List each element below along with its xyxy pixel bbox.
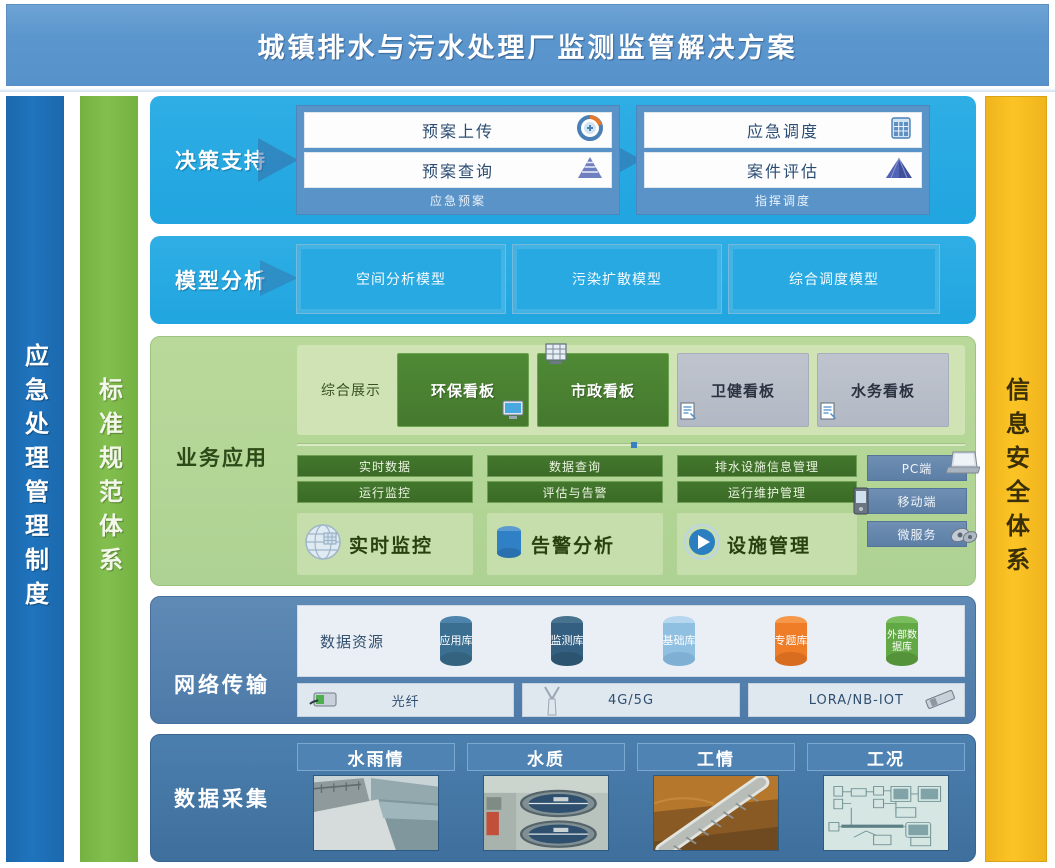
business-cell-label: 数据查询 xyxy=(549,458,601,475)
business-cell[interactable]: 运行监控 xyxy=(297,481,473,503)
pyramid-dark-icon xyxy=(885,156,913,184)
decision-item-label: 案件评估 xyxy=(747,158,819,182)
device-pc[interactable]: PC端 xyxy=(867,455,967,481)
transmission-link-4g5g[interactable]: 4G/5G xyxy=(522,683,739,717)
cycle-arrows-icon xyxy=(577,115,603,145)
grid-table-icon xyxy=(889,116,913,144)
data-card-title: 工情 xyxy=(697,745,735,770)
data-card-title: 水雨情 xyxy=(348,745,405,770)
svg-text:监测库: 监测库 xyxy=(551,634,584,647)
business-footer-label: 实时监控 xyxy=(349,531,433,558)
kanban-water-affairs[interactable]: 水务看板 xyxy=(817,353,949,427)
window-grid-icon xyxy=(544,342,568,370)
decision-item-label: 应急调度 xyxy=(747,118,819,142)
arrow-model xyxy=(260,260,298,296)
device-label: 移动端 xyxy=(897,493,936,510)
data-card-water-quality[interactable]: 水质 xyxy=(467,743,625,855)
header-separator xyxy=(0,88,1055,92)
business-footer-label: 告警分析 xyxy=(531,531,615,558)
kanban-label: 环保看板 xyxy=(431,380,495,401)
business-cell[interactable]: 评估与告警 xyxy=(487,481,663,503)
architecture-stack: 决策支持 预案上传 预案查询 xyxy=(150,96,976,862)
database-application[interactable]: 应用库 xyxy=(400,614,512,668)
database-monitoring[interactable]: 监测库 xyxy=(512,614,624,668)
model-box-integrated-dispatch[interactable]: 综合调度模型 xyxy=(728,244,940,314)
database-icon xyxy=(493,523,525,566)
comprehensive-display-label: 综合展示 xyxy=(305,380,397,400)
decision-item-case-assessment[interactable]: 案件评估 xyxy=(644,152,922,188)
decision-group-command-dispatch: 应急调度 案件评估 xyxy=(636,105,930,215)
decision-item-emergency-dispatch[interactable]: 应急调度 xyxy=(644,112,922,148)
decision-item-plan-upload[interactable]: 预案上传 xyxy=(304,112,612,148)
decision-group-caption: 指挥调度 xyxy=(644,192,922,209)
kanban-label: 水务看板 xyxy=(851,380,915,401)
business-cell[interactable]: 实时数据 xyxy=(297,455,473,477)
section-label-business-application: 业务应用 xyxy=(151,397,293,517)
gears-icon xyxy=(948,522,980,551)
device-label: PC端 xyxy=(902,460,933,477)
page-title: 城镇排水与污水处理厂监测监管解决方案 xyxy=(258,26,798,65)
data-card-title-bar: 工况 xyxy=(807,743,965,771)
transmission-link-lora[interactable]: LORA/NB-IOT xyxy=(748,683,965,717)
device-label: 微服务 xyxy=(897,526,936,543)
sensor-device-icon xyxy=(922,687,958,717)
data-card-works-status[interactable]: 工情 xyxy=(637,743,795,855)
data-card-title: 水质 xyxy=(527,745,565,770)
svg-text:应用库: 应用库 xyxy=(439,633,472,647)
decision-item-plan-query[interactable]: 预案查询 xyxy=(304,152,612,188)
form-icon xyxy=(820,402,838,424)
decision-group-emergency-plan: 预案上传 预案查询 xyxy=(296,105,620,215)
decision-item-label: 预案查询 xyxy=(422,158,494,182)
transmission-link-label: 光纤 xyxy=(392,691,420,710)
laptop-icon xyxy=(946,450,980,479)
section-label-network-transmission: 网络传输 xyxy=(151,597,293,723)
data-resources-row: 数据资源 应用库 监测库 xyxy=(297,605,965,677)
sedimentation-tanks-photo xyxy=(483,775,609,851)
kanban-environment[interactable]: 环保看板 xyxy=(397,353,529,427)
business-footer-label: 设施管理 xyxy=(727,531,811,558)
business-cell-label: 排水设施信息管理 xyxy=(715,458,819,475)
antenna-tower-icon xyxy=(541,685,563,721)
business-cell-label: 评估与告警 xyxy=(542,484,607,501)
decision-group-caption: 应急预案 xyxy=(304,192,612,209)
arrow-decision-1 xyxy=(258,138,298,182)
fiber-cable-icon xyxy=(308,688,342,716)
section-network-transmission: 网络传输 数据资源 应用库 监测库 xyxy=(150,596,976,724)
business-cell[interactable]: 排水设施信息管理 xyxy=(677,455,857,477)
data-resources-label: 数据资源 xyxy=(304,631,400,652)
business-cell[interactable]: 运行维护管理 xyxy=(677,481,857,503)
svg-text:外部数: 外部数 xyxy=(887,628,917,641)
business-column-facility: 排水设施信息管理 运行维护管理 xyxy=(677,455,857,507)
database-basic[interactable]: 基础库 xyxy=(623,614,735,668)
pillar-emergency-management: 应急处理管理制度 xyxy=(6,96,64,862)
scada-diagram-photo xyxy=(823,775,949,851)
business-column-analysis: 数据查询 评估与告警 xyxy=(487,455,663,507)
database-external[interactable]: 外部数 据库 xyxy=(846,614,958,668)
business-column-monitoring: 实时数据 运行监控 xyxy=(297,455,473,507)
transmission-link-label: LORA/NB-IOT xyxy=(809,693,904,708)
monitor-icon xyxy=(502,400,524,424)
model-box-label: 污染扩散模型 xyxy=(572,269,662,289)
svg-text:专题库: 专题库 xyxy=(774,633,807,647)
play-circle-icon xyxy=(683,523,721,566)
business-cell-label: 运行维护管理 xyxy=(728,484,806,501)
section-model-analysis: 模型分析 空间分析模型 污染扩散模型 综合调度模型 xyxy=(150,236,976,324)
transmission-link-label: 4G/5G xyxy=(608,693,654,708)
business-cell-label: 实时数据 xyxy=(359,458,411,475)
data-card-title-bar: 水雨情 xyxy=(297,743,455,771)
kanban-label: 卫健看板 xyxy=(711,380,775,401)
svg-text:基础库: 基础库 xyxy=(662,634,695,647)
data-card-title-bar: 工情 xyxy=(637,743,795,771)
pyramid-icon xyxy=(577,156,603,184)
transmission-link-fiber[interactable]: 光纤 xyxy=(297,683,514,717)
kanban-municipal[interactable]: 市政看板 xyxy=(537,353,669,427)
pillar-information-security: 信息安全体系 xyxy=(985,96,1047,862)
business-footer-realtime-monitoring[interactable]: 实时监控 xyxy=(297,513,473,575)
business-footer-alarm-analysis[interactable]: 告警分析 xyxy=(487,513,663,575)
transmission-links-row: 光纤 4G/5G LORA/NB-IOT xyxy=(297,683,965,717)
business-footer-facility-management[interactable]: 设施管理 xyxy=(677,513,857,575)
device-microservice[interactable]: 微服务 xyxy=(867,521,967,547)
section-label-data-collection: 数据采集 xyxy=(151,735,293,861)
model-box-label: 空间分析模型 xyxy=(356,269,446,289)
section-data-collection: 数据采集 水雨情 xyxy=(150,734,976,862)
river-embankment-photo xyxy=(313,775,439,851)
comprehensive-display-row: 综合展示 环保看板 市政看板 xyxy=(297,345,965,435)
business-divider xyxy=(297,443,965,446)
business-cell-label: 运行监控 xyxy=(359,484,411,501)
mobile-phone-icon xyxy=(852,486,870,519)
database-thematic[interactable]: 专题库 xyxy=(735,614,847,668)
data-card-operating-condition[interactable]: 工况 xyxy=(807,743,965,855)
page-header: 城镇排水与污水处理厂监测监管解决方案 xyxy=(6,4,1049,86)
business-footer-row: 实时监控 告警分析 xyxy=(297,513,857,575)
pillar-standards-system: 标准规范体系 xyxy=(80,96,138,862)
decision-item-label: 预案上传 xyxy=(422,118,494,142)
data-card-title-bar: 水质 xyxy=(467,743,625,771)
form-icon xyxy=(680,402,698,424)
device-mobile[interactable]: 移动端 xyxy=(867,488,967,514)
data-card-title: 工况 xyxy=(867,745,905,770)
svg-text:据库: 据库 xyxy=(892,640,912,653)
data-collection-cards: 水雨情 xyxy=(297,743,965,855)
kanban-health[interactable]: 卫健看板 xyxy=(677,353,809,427)
section-decision-support: 决策支持 预案上传 预案查询 xyxy=(150,96,976,224)
buried-pipeline-photo xyxy=(653,775,779,851)
model-box-pollution-diffusion[interactable]: 污染扩散模型 xyxy=(512,244,722,314)
model-box-spatial[interactable]: 空间分析模型 xyxy=(296,244,506,314)
data-card-hydrology[interactable]: 水雨情 xyxy=(297,743,455,855)
client-devices-list: PC端 移动端 xyxy=(867,455,967,554)
section-business-application: 业务应用 综合展示 环保看板 市政看板 xyxy=(150,336,976,586)
model-box-label: 综合调度模型 xyxy=(789,269,879,289)
kanban-label: 市政看板 xyxy=(571,380,635,401)
business-cell[interactable]: 数据查询 xyxy=(487,455,663,477)
globe-icon xyxy=(303,522,343,567)
